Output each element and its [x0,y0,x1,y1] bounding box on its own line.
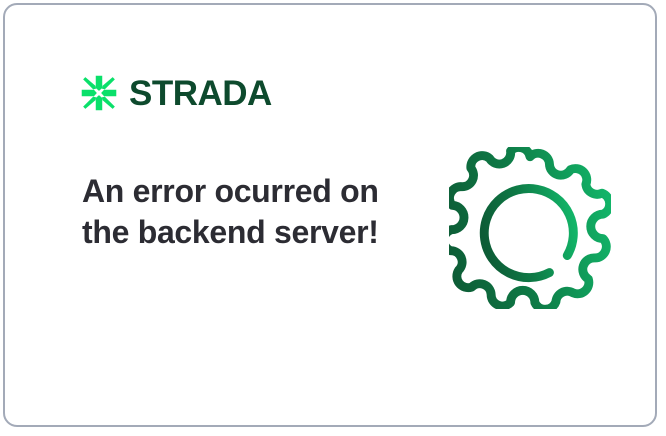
strada-asterisk-mark-icon [81,75,117,111]
brand-wordmark: STRADA [129,76,272,111]
error-card: STRADA An error ocurred on the backend s… [3,3,657,427]
error-message: An error ocurred on the backend server! [82,171,382,253]
gear-spinner-icon [449,147,611,309]
brand-lockup: STRADA [81,75,272,111]
